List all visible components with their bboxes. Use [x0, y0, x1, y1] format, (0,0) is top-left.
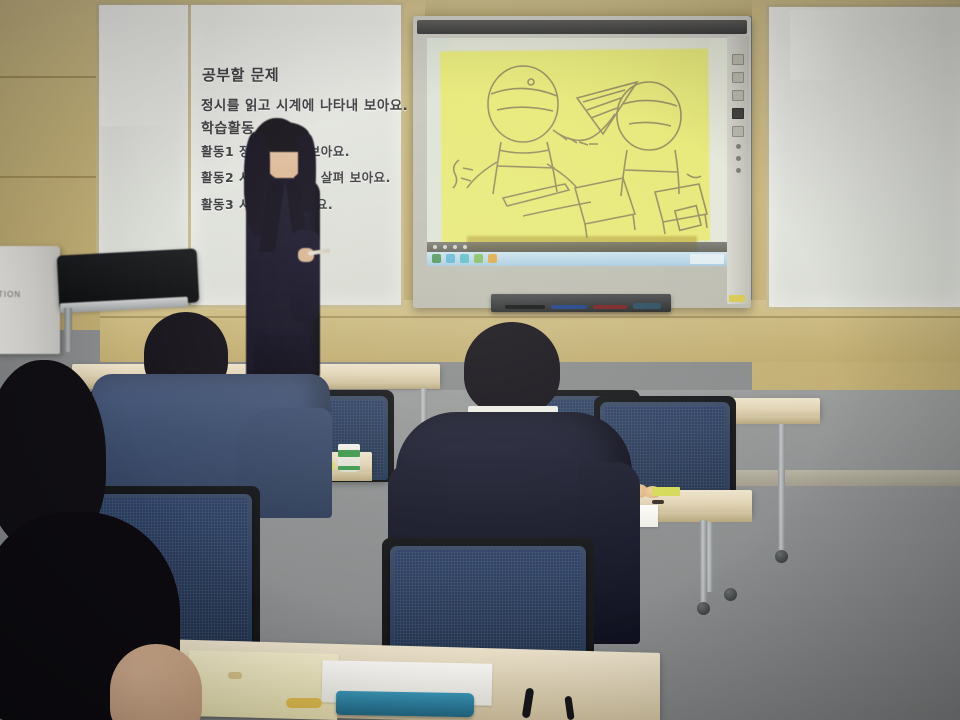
classroom-photo: 공부할 문제 정시를 읽고 시계에 나타내 보아요. 학습활동 활동1 정시를 …	[0, 0, 960, 720]
lesson-objective: 정시를 읽고 시계에 나타내 보아요.	[201, 94, 408, 114]
help-button[interactable]	[736, 168, 741, 173]
whiteboard-panel-right	[766, 4, 960, 310]
start-icon[interactable]	[432, 254, 441, 263]
head	[464, 322, 560, 414]
wall-seam	[0, 176, 100, 178]
eraser-small	[228, 672, 242, 679]
windows-taskbar[interactable]	[427, 252, 727, 266]
electronic-whiteboard[interactable]	[413, 16, 751, 308]
lesson-title: 공부할 문제	[202, 64, 279, 85]
wall-seam	[0, 76, 100, 78]
media-icon[interactable]	[474, 254, 483, 263]
red-pen[interactable]	[593, 305, 627, 309]
browser-icon[interactable]	[460, 254, 469, 263]
page-button[interactable]	[732, 72, 744, 83]
blue-pencil-case[interactable]	[336, 691, 474, 717]
app-icon[interactable]	[488, 254, 497, 263]
presenter-arm	[290, 230, 320, 322]
table-leg	[700, 520, 707, 608]
slide-status-bar	[427, 242, 727, 252]
board-top-bezel	[417, 20, 747, 34]
pen-button[interactable]	[732, 90, 744, 101]
attendee-foreground-bottom	[0, 512, 200, 720]
name-card-right	[652, 487, 680, 496]
child-drawing	[427, 38, 727, 248]
shoulder	[110, 644, 202, 720]
print-button[interactable]	[736, 144, 741, 149]
table-caster	[775, 550, 788, 563]
monitor-stem	[64, 308, 72, 352]
pen-tray[interactable]	[491, 294, 671, 312]
table-leg	[778, 424, 785, 554]
cabinet-label: TION	[0, 290, 21, 299]
ballpoint-pen	[652, 500, 664, 504]
cup-label	[338, 450, 360, 457]
attendee-front-left	[86, 312, 336, 512]
black-pen[interactable]	[505, 305, 545, 309]
blue-pen[interactable]	[551, 305, 587, 309]
projection-screen[interactable]	[427, 38, 727, 266]
yellow-marker	[286, 698, 322, 708]
board-brand-tag	[729, 295, 745, 302]
menu-button[interactable]	[732, 54, 744, 65]
yellow-folder	[187, 650, 339, 720]
erase-button[interactable]	[732, 108, 744, 119]
equipment-cabinet: TION	[0, 246, 60, 354]
undo-button[interactable]	[736, 156, 741, 161]
eraser[interactable]	[633, 303, 661, 309]
board-button-rail[interactable]	[727, 36, 749, 304]
save-button[interactable]	[732, 126, 744, 137]
system-tray[interactable]	[690, 254, 724, 264]
cup-label-lower	[338, 466, 360, 470]
folder-icon[interactable]	[446, 254, 455, 263]
table-caster	[697, 602, 710, 615]
chair-caster	[724, 588, 737, 601]
